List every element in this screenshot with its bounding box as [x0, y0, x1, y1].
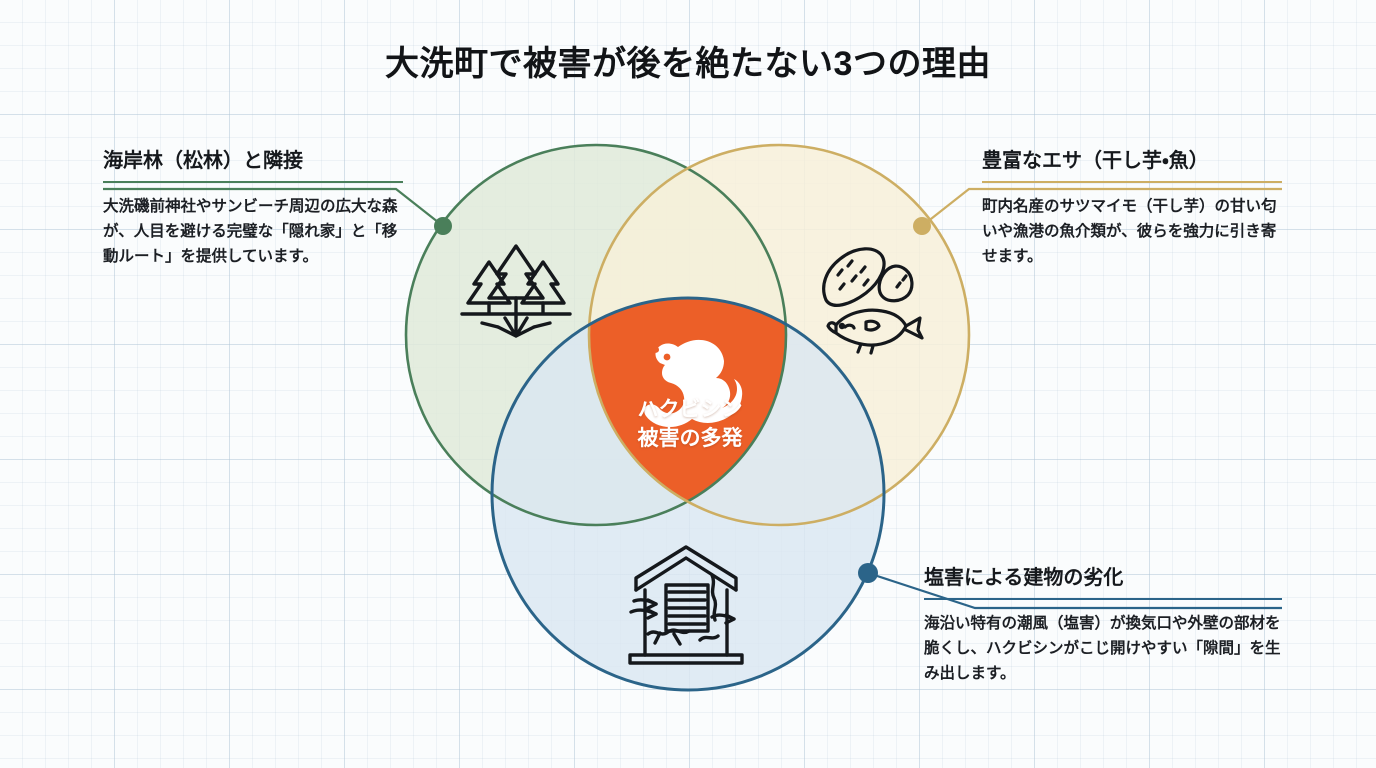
infographic-canvas: 大洗町で被害が後を絶たない3つの理由 [0, 0, 1376, 768]
callout-salt: 塩害による建物の劣化 海沿い特有の潮風（塩害）が換気口や外壁の部材を脆くし、ハク… [924, 565, 1282, 686]
connector-dot-food [913, 217, 931, 235]
callout-salt-heading: 塩害による建物の劣化 [924, 565, 1282, 591]
callout-forest-body: 大洗磯前神社やサンビーチ周辺の広大な森が、人目を避ける完璧な「隠れ家」と「移動ル… [103, 194, 403, 269]
callout-forest: 海岸林（松林）と隣接 大洗磯前神社やサンビーチ周辺の広大な森が、人目を避ける完璧… [103, 148, 403, 269]
connector-dot-forest [434, 217, 452, 235]
callout-salt-body: 海沿い特有の潮風（塩害）が換気口や外壁の部材を脆くし、ハクビシンがこじ開けやすい… [924, 611, 1282, 686]
callout-salt-rule [924, 598, 1282, 600]
callout-forest-heading: 海岸林（松林）と隣接 [103, 148, 403, 174]
callout-forest-rule [103, 181, 403, 183]
connector-dot-salt [858, 563, 878, 583]
callout-food-rule [982, 181, 1282, 183]
callout-food: 豊富なエサ（干し芋・魚） 町内名産のサツマイモ（干し芋）の甘い匂いや漁港の魚介類… [982, 148, 1282, 269]
callout-food-heading: 豊富なエサ（干し芋・魚） [982, 148, 1282, 174]
callout-food-body: 町内名産のサツマイモ（干し芋）の甘い匂いや漁港の魚介類が、彼らを強力に引き寄せま… [982, 194, 1282, 269]
